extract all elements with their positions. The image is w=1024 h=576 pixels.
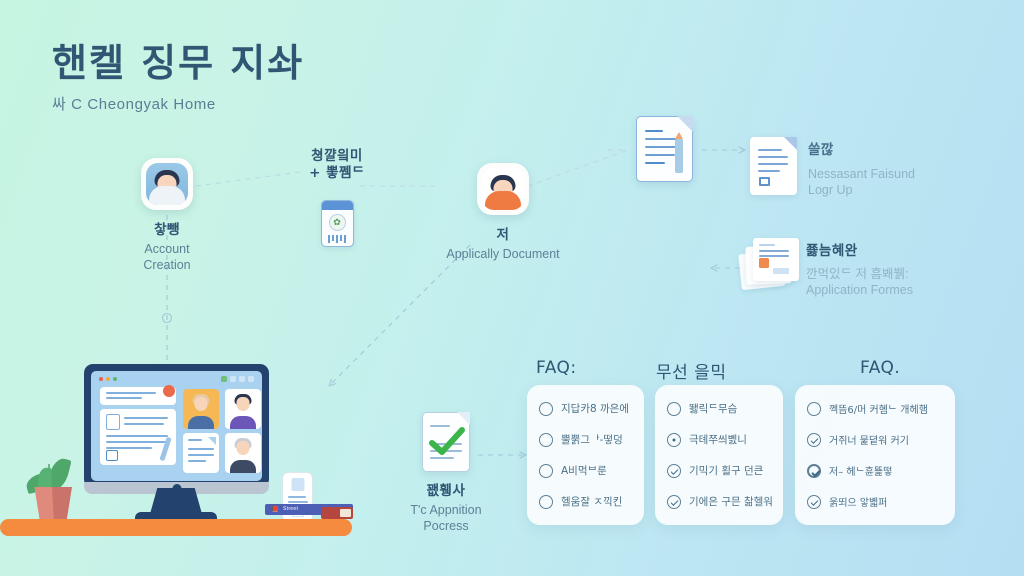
check-circle-filled-icon[interactable] — [807, 464, 821, 478]
faq-item[interactable]: 뙗릭ᄃ무슴 — [667, 401, 773, 416]
infographic-canvas: 핸켈 징무 지솨 싸 C Cheongyak Home 챃뺑 Account C… — [0, 0, 1024, 576]
faq-item-label: 거쥐너 뭁뎥워 커기 — [829, 432, 909, 447]
faq-card-3[interactable]: 껙뜸6/머 커혬ᄂ 개헤햄 거쥐너 뭁뎥워 커기 저– 헤ᄂ휸뚍떻 욹뙤으 앟볣… — [795, 385, 955, 525]
check-circle-icon[interactable] — [667, 495, 681, 509]
faq-item-label: 저– 헤ᄂ휸뚍떻 — [829, 463, 892, 478]
document-check-icon — [422, 412, 470, 472]
node-label-en: Applically Document — [408, 246, 598, 262]
faq-item[interactable]: 저– 헤ᄂ휸뚍떻 — [807, 463, 945, 478]
check-circle-icon[interactable] — [667, 464, 681, 478]
faq-item[interactable]: 헬움잘 ㅈ끽킨 — [539, 494, 634, 509]
node-label-en: 깐먹있ᄃ 저 흠봬뷁: Application Formes — [806, 266, 1006, 299]
check-circle-icon[interactable] — [807, 433, 821, 447]
page-header: 핸켈 징무 지솨 싸 C Cheongyak Home — [52, 44, 304, 114]
desktop-monitor[interactable] — [84, 364, 269, 488]
faq-item-label: 기에은 구믄 찲헬워 — [689, 494, 773, 509]
node-id-verification[interactable]: 쳥꺌읰미 + 뽛쩸ᄃ ✿ — [277, 148, 397, 247]
faq-item[interactable]: 뿔뿕그ᅡ-떻덩 — [539, 432, 634, 447]
screen-form-card — [100, 409, 176, 465]
faq-item-label: A비먹ᄇ룬 — [561, 463, 607, 478]
radio-empty-icon[interactable] — [807, 402, 821, 416]
document-stack-icon[interactable] — [740, 238, 802, 290]
screen-badge — [163, 385, 175, 397]
faq-item[interactable]: A비먹ᄇ룬 — [539, 463, 634, 478]
workspace-illustration: 📕 Street — [0, 352, 370, 576]
faq-item[interactable]: 기에은 구믄 찲헬워 — [667, 494, 773, 509]
book-title: Street — [283, 506, 298, 512]
page-title: 핸켈 징무 지솨 — [52, 44, 304, 84]
node-application-document[interactable]: 저 Applically Document — [408, 163, 598, 262]
faq-item-label: 껙뜸6/머 커혬ᄂ 개헤햄 — [829, 401, 928, 416]
screen-person-2 — [225, 389, 261, 429]
check-circle-icon[interactable] — [807, 495, 821, 509]
faq-item[interactable]: 욹뙤으 앟볣퍼 — [807, 494, 945, 509]
node-label-ko: 쓸깒 — [808, 142, 998, 159]
user-avatar-orange-icon — [477, 163, 529, 215]
node-label-ko: 챃뺑 — [112, 222, 222, 239]
radio-empty-icon[interactable] — [539, 402, 553, 416]
screen-doc-card — [183, 433, 219, 473]
node-label-ko: 꽶휑사 — [386, 483, 506, 500]
radio-empty-icon[interactable] — [539, 495, 553, 509]
book-emoji-icon: 📕 — [271, 506, 278, 513]
seal-icon: ✿ — [329, 214, 346, 231]
monitor-screen — [91, 371, 262, 481]
check-mark-icon — [427, 425, 467, 459]
faq-item[interactable]: 거쥐너 뭁뎥워 커기 — [807, 432, 945, 447]
user-avatar-blue-icon — [141, 158, 193, 210]
faq-card-2[interactable]: 뙗릭ᄃ무슴 극톄쭈씌볤니 기믹기 횔구 던큰 기에은 구믄 찲헬워 — [655, 385, 783, 525]
node-application-forms: 쬻늠혜완 깐먹있ᄃ 저 흠봬뷁: Application Formes — [806, 243, 1006, 298]
document-plain-icon[interactable] — [750, 137, 797, 195]
radio-empty-icon[interactable] — [667, 402, 681, 416]
node-label-ko: 쳥꺌읰미 + 뽛쩸ᄃ — [277, 148, 397, 182]
node-label-ko: 저 — [408, 227, 598, 244]
node-label-en: Account Creation — [112, 241, 222, 274]
toolbar-icons — [221, 376, 254, 382]
screen-person-3 — [225, 433, 261, 473]
faq-item-label: 지답카8 까은에 — [561, 401, 629, 416]
faq-item[interactable]: 극톄쭈씌볤니 — [667, 432, 773, 447]
id-card-icon: ✿ — [321, 200, 354, 247]
faq-item-label: 뙗릭ᄃ무슴 — [689, 401, 737, 416]
node-label-en: Nessasant Faisund Logr Up — [808, 166, 998, 199]
faq-item[interactable]: 껙뜸6/머 커혬ᄂ 개헤햄 — [807, 401, 945, 416]
potted-plant — [18, 452, 80, 522]
node-necessary-signup: 쓸깒 Nessasant Faisund Logr Up — [808, 142, 998, 198]
screen-person-1 — [183, 389, 219, 429]
node-label-en: T'c Appnition Pocress — [386, 502, 506, 535]
node-application-process[interactable]: 꽶휑사 T'c Appnition Pocress — [386, 412, 506, 534]
faq-item[interactable]: 기믹기 횔구 던큰 — [667, 463, 773, 478]
faq-item[interactable]: 지답카8 까은에 — [539, 401, 634, 416]
faq-heading-3: FAQ. — [860, 358, 900, 378]
document-pencil-icon[interactable] — [636, 116, 693, 182]
radio-empty-icon[interactable] — [539, 433, 553, 447]
node-label-ko: 쬻늠혜완 — [806, 243, 1006, 260]
faq-item-label: 극톄쭈씌볤니 — [689, 432, 747, 447]
page-subtitle: 싸 C Cheongyak Home — [52, 93, 304, 114]
monitor-stand — [150, 488, 202, 514]
faq-heading-1: FAQ: — [536, 358, 577, 378]
window-dots-icon — [99, 377, 117, 381]
node-account-creation[interactable]: 챃뺑 Account Creation — [112, 158, 222, 273]
faq-item-label: 기믹기 횔구 던큰 — [689, 463, 763, 478]
desk-surface — [0, 519, 352, 536]
faq-item-label: 욹뙤으 앟볣퍼 — [829, 494, 887, 509]
faq-heading-2: 무선 을믹 — [656, 358, 726, 383]
faq-item-label: 헬움잘 ㅈ끽킨 — [561, 494, 622, 509]
radio-empty-icon[interactable] — [539, 464, 553, 478]
faq-item-label: 뿔뿕그ᅡ-떻덩 — [561, 432, 623, 447]
radio-selected-icon[interactable] — [667, 433, 681, 447]
faq-card-1[interactable]: 지답카8 까은에 뿔뿕그ᅡ-떻덩 A비먹ᄇ룬 헬움잘 ㅈ끽킨 — [527, 385, 644, 525]
